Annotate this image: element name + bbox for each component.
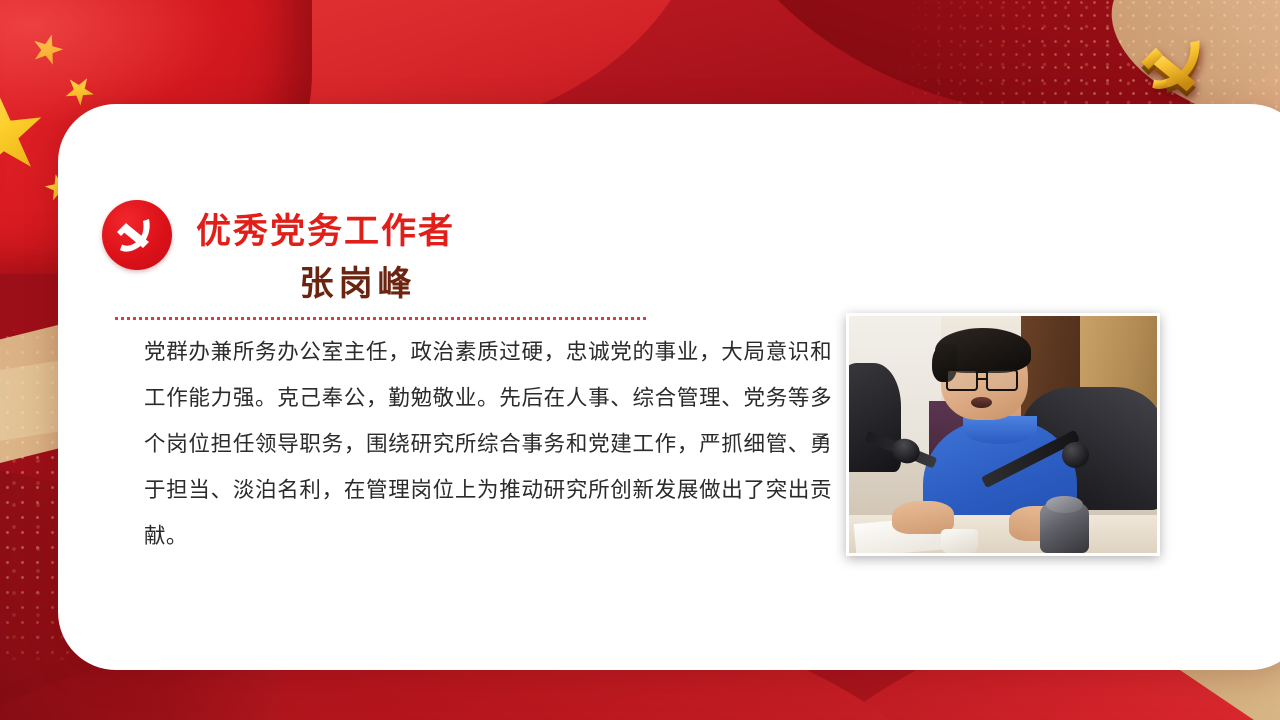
- person-name: 张岗峰: [58, 256, 658, 305]
- portrait-photo: [846, 313, 1160, 556]
- photo-thermos-lid: [1046, 496, 1083, 513]
- dotted-divider: [115, 317, 647, 320]
- photo-microphone-right-head: [1062, 442, 1090, 468]
- photo-glasses-left: [946, 369, 978, 390]
- photo-glasses-right: [986, 369, 1018, 390]
- description-text: 党群办兼所务办公室主任，政治素质过硬，忠诚党的事业，大局意识和工作能力强。克己奉…: [144, 330, 832, 560]
- photo-white-cup: [941, 529, 978, 553]
- hammer-sickle-glyph: [112, 210, 162, 260]
- cpc-hammer-sickle-gold-icon: [1128, 26, 1220, 104]
- flag-star-large: [0, 88, 48, 180]
- flag-star-small-1: [28, 30, 66, 68]
- photo-glasses-bridge: [978, 378, 987, 380]
- portrait-photo-image: [849, 316, 1157, 553]
- slide-stage: 优秀党务工作者 张岗峰 党群办兼所务办公室主任，政治素质过硬，忠诚党的事业，大局…: [0, 0, 1280, 720]
- content-card: 优秀党务工作者 张岗峰 党群办兼所务办公室主任，政治素质过硬，忠诚党的事业，大局…: [58, 104, 1280, 670]
- flag-star-small-2: [60, 71, 100, 111]
- page-title: 优秀党务工作者: [196, 203, 455, 254]
